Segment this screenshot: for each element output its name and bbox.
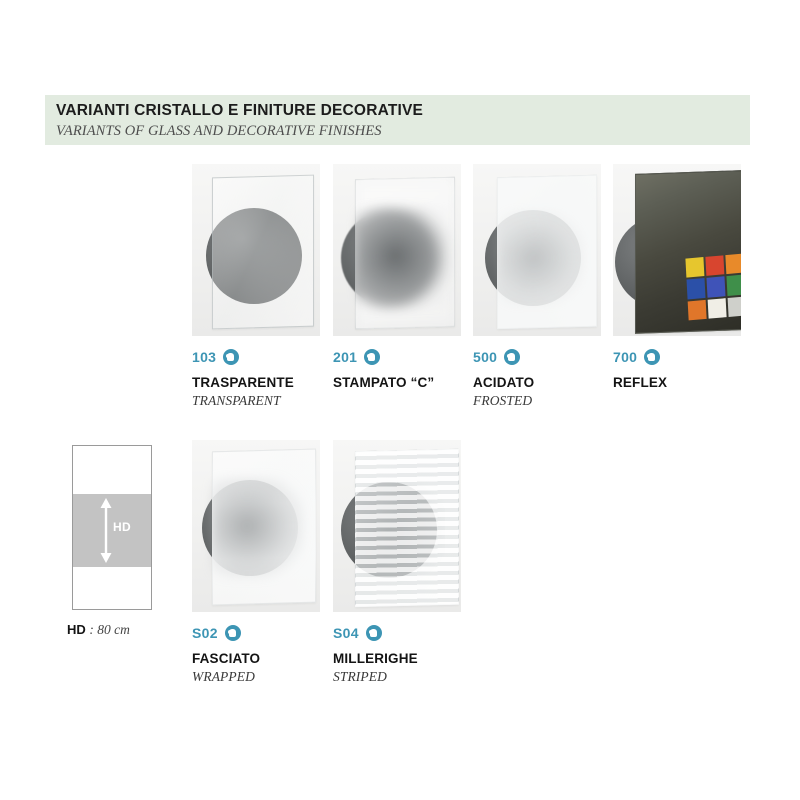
sample-card-s04[interactable]: S04 MILLERIGHE STRIPED [333,440,461,685]
checker-swatch [726,275,741,296]
checker-swatch [705,255,724,276]
sample-code: 500 [473,349,497,365]
sample-card-700[interactable]: 700 REFLEX [613,164,741,393]
hd-panel-outline: HD [72,445,152,610]
page-title: VARIANTI CRISTALLO E FINITURE DECORATIVE [56,102,750,120]
sample-caption-500: 500 ACIDATO FROSTED [473,348,601,409]
color-checker-grid [685,254,741,321]
hd-caption-value: : 80 cm [89,622,130,637]
touch-icon [644,349,660,365]
sample-caption-103: 103 TRASPARENTE TRANSPARENT [192,348,320,409]
sample-image-500 [473,164,601,336]
code-row: 700 [613,348,741,366]
sample-code: S02 [192,625,218,641]
checker-swatch [707,277,726,298]
checker-swatch [687,278,706,299]
striped-glass-overlay [355,449,459,608]
sample-name-en: TRANSPARENT [192,393,320,409]
hd-band-label: HD [113,520,131,534]
checker-swatch [728,296,741,317]
blurred-sphere-through-glass [357,208,449,308]
checker-swatch [685,257,704,278]
sample-name-en: WRAPPED [192,669,320,685]
sample-name-it: ACIDATO [473,375,601,391]
sample-code: 103 [192,349,216,365]
sample-name-en: STRIPED [333,669,461,685]
hd-double-arrow-icon [99,498,113,563]
hd-diagram: HD HD : 80 cm [72,445,162,638]
touch-icon [366,625,382,641]
sample-card-500[interactable]: 500 ACIDATO FROSTED [473,164,601,409]
glass-pane [212,175,314,330]
sample-code: 700 [613,349,637,365]
touch-icon [504,349,520,365]
sample-name-it: MILLERIGHE [333,651,461,667]
code-row: 103 [192,348,320,366]
touch-icon [223,349,239,365]
sample-code: S04 [333,625,359,641]
sample-code: 201 [333,349,357,365]
checker-swatch [725,254,741,275]
checker-swatch [688,300,707,321]
checker-swatch [708,298,727,319]
sample-name-it: TRASPARENTE [192,375,320,391]
sample-image-700 [613,164,741,336]
sample-caption-s02: S02 FASCIATO WRAPPED [192,624,320,685]
sample-caption-201: 201 STAMPATO “C” [333,348,461,391]
code-row: S02 [192,624,320,642]
code-row: 500 [473,348,601,366]
code-row: 201 [333,348,461,366]
page-subtitle: VARIANTS OF GLASS AND DECORATIVE FINISHE… [56,122,750,141]
sample-card-103[interactable]: 103 TRASPARENTE TRANSPARENT [192,164,320,409]
sample-image-201 [333,164,461,336]
touch-icon [225,625,241,641]
sample-name-en: FROSTED [473,393,601,409]
sample-image-s04 [333,440,461,612]
sample-card-201[interactable]: 201 STAMPATO “C” [333,164,461,393]
hd-caption-key: HD [67,622,86,637]
sample-image-s02 [192,440,320,612]
sample-caption-700: 700 REFLEX [613,348,741,391]
sample-card-s02[interactable]: S02 FASCIATO WRAPPED [192,440,320,685]
frosted-sphere-glow [499,210,585,306]
wrapped-sphere-glow [212,478,304,578]
sample-name-it: REFLEX [613,375,741,391]
sample-image-103 [192,164,320,336]
sample-caption-s04: S04 MILLERIGHE STRIPED [333,624,461,685]
hd-caption: HD : 80 cm [67,622,162,638]
page-root: VARIANTI CRISTALLO E FINITURE DECORATIVE… [0,0,800,800]
sample-name-it: STAMPATO “C” [333,375,461,391]
section-header-band: VARIANTI CRISTALLO E FINITURE DECORATIVE… [45,95,750,145]
sample-name-it: FASCIATO [192,651,320,667]
touch-icon [364,349,380,365]
code-row: S04 [333,624,461,642]
